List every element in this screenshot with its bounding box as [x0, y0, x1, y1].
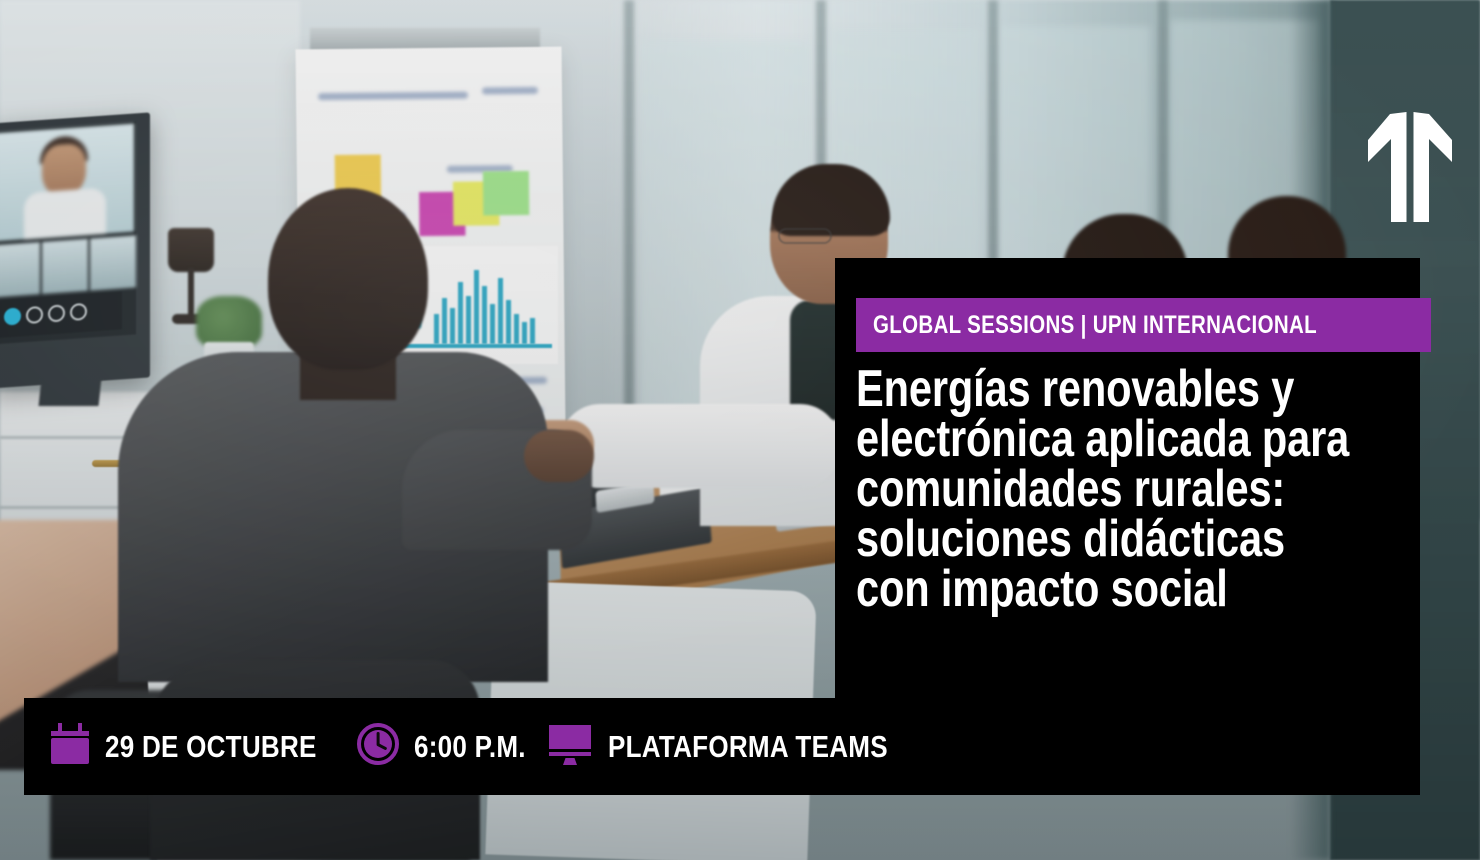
event-details-bar: 29 DE OCTUBRE 6:00 P.M.: [24, 698, 835, 795]
title-line-4: soluciones didácticas: [856, 514, 1304, 564]
title-line-3: comunidades rurales:: [856, 464, 1304, 514]
detail-time: 6:00 P.M.: [357, 723, 547, 770]
eyebrow-label: GLOBAL SESSIONS | UPN INTERNACIONAL: [873, 311, 1317, 340]
upn-double-arrow-logo: [1368, 112, 1452, 222]
title-line-5: con impacto social: [856, 564, 1304, 614]
photo-video-call-monitor: [0, 112, 150, 388]
detail-date: 29 DE OCTUBRE: [50, 723, 357, 770]
promo-banner: GLOBAL SESSIONS | UPN INTERNACIONAL Ener…: [0, 0, 1480, 860]
monitor-icon: [547, 722, 593, 771]
date-label: 29 DE OCTUBRE: [105, 729, 317, 765]
eyebrow-badge: GLOBAL SESSIONS | UPN INTERNACIONAL: [856, 298, 1431, 352]
platform-label: PLATAFORMA TEAMS: [608, 729, 888, 765]
time-label: 6:00 P.M.: [414, 729, 526, 765]
title-line-1: Energías renovables y: [856, 364, 1304, 414]
event-title: Energías renovables y electrónica aplica…: [856, 364, 1416, 614]
clock-icon: [357, 723, 399, 770]
title-line-2: electrónica aplicada para: [856, 414, 1304, 464]
calendar-icon: [50, 723, 90, 770]
detail-platform: PLATAFORMA TEAMS: [547, 722, 941, 771]
